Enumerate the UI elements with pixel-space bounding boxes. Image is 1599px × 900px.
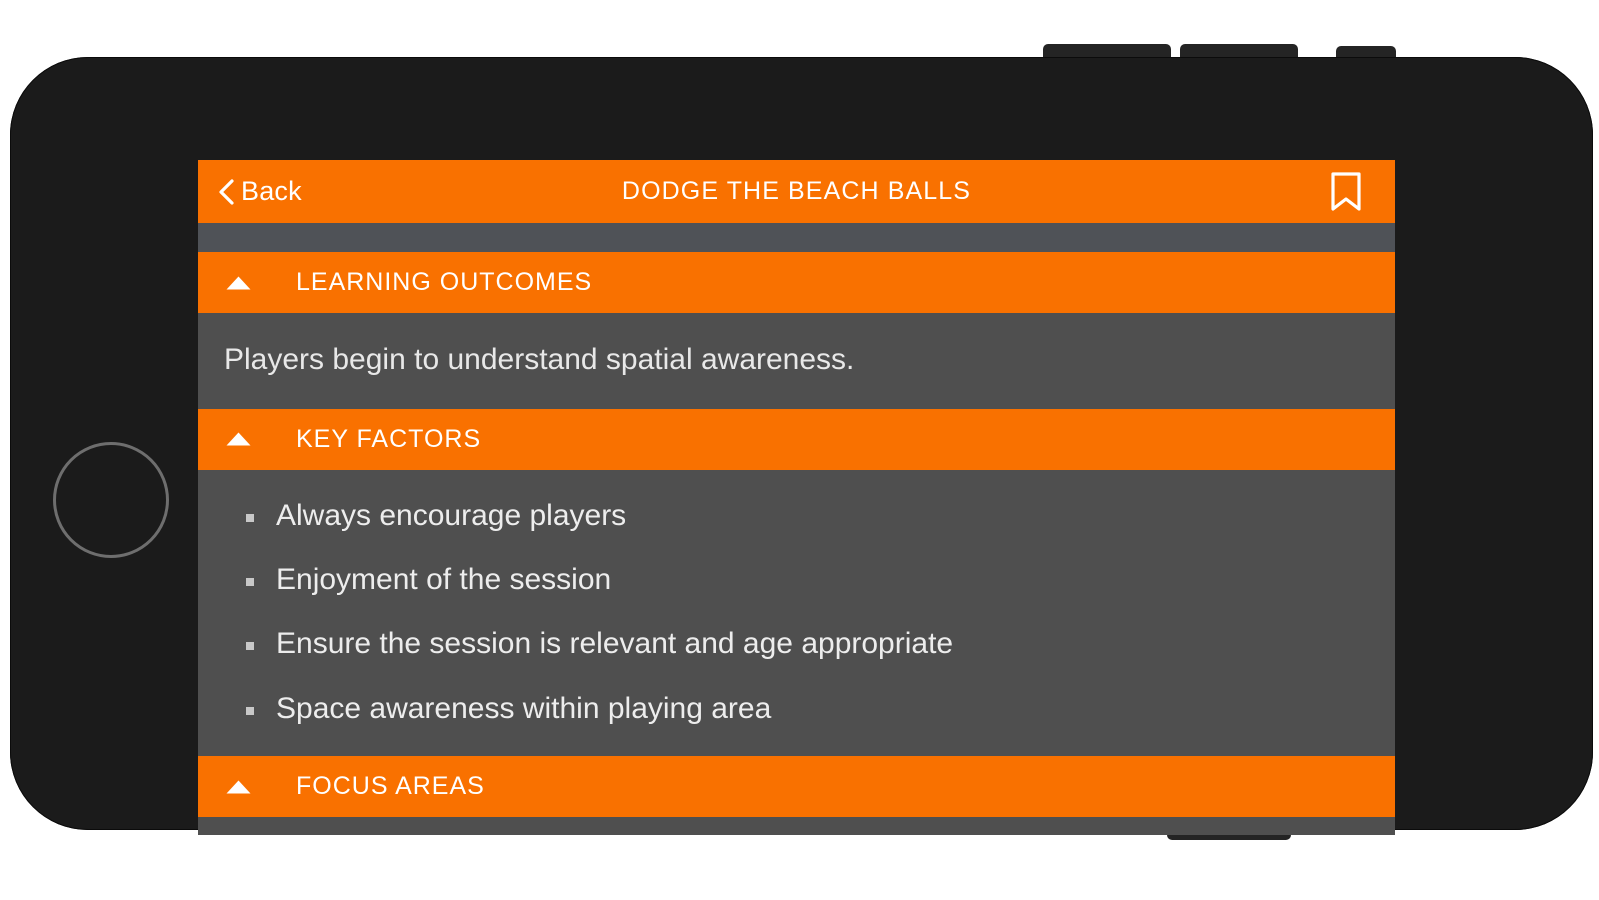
bullet-icon xyxy=(246,642,254,650)
caret-up-icon xyxy=(225,779,252,795)
section-header-key-factors[interactable]: KEY FACTORS xyxy=(198,409,1395,470)
page-title: DODGE THE BEACH BALLS xyxy=(198,177,1395,206)
bullet-icon xyxy=(246,578,254,586)
screenshot-stage: Back DODGE THE BEACH BALLS LEARNING OUTC… xyxy=(0,0,1599,900)
bullet-icon xyxy=(246,514,254,522)
list-item-label: Enjoyment of the session xyxy=(276,562,611,597)
caret-up-icon xyxy=(225,431,252,447)
list-item: Space awareness within playing area xyxy=(198,691,1395,726)
list-item-label: Ensure the session is relevant and age a… xyxy=(276,626,953,661)
back-button[interactable]: Back xyxy=(218,178,302,205)
list-item: Enjoyment of the session xyxy=(198,562,1395,597)
section-body-learning-outcomes: Players begin to understand spatial awar… xyxy=(198,313,1395,409)
phone-body: Back DODGE THE BEACH BALLS LEARNING OUTC… xyxy=(10,57,1593,830)
key-factors-list: Always encourage players Enjoyment of th… xyxy=(198,470,1395,757)
navigation-bar: Back DODGE THE BEACH BALLS xyxy=(198,160,1395,223)
learning-outcomes-text: Players begin to understand spatial awar… xyxy=(198,313,1395,409)
section-title-focus-areas: FOCUS AREAS xyxy=(296,772,485,801)
bookmark-button[interactable] xyxy=(1329,171,1363,213)
phone-screen: Back DODGE THE BEACH BALLS LEARNING OUTC… xyxy=(198,160,1395,835)
home-button[interactable] xyxy=(53,442,169,558)
navbar-separator xyxy=(198,223,1395,252)
list-item-label: Always encourage players xyxy=(276,498,626,533)
section-header-focus-areas[interactable]: FOCUS AREAS xyxy=(198,756,1395,817)
caret-up-icon xyxy=(225,275,252,291)
list-item: Always encourage players xyxy=(198,498,1395,533)
section-body-key-factors: Always encourage players Enjoyment of th… xyxy=(198,470,1395,757)
bookmark-icon xyxy=(1330,172,1362,212)
list-item: Ensure the session is relevant and age a… xyxy=(198,626,1395,661)
section-title-key-factors: KEY FACTORS xyxy=(296,425,481,454)
back-button-label: Back xyxy=(241,178,302,205)
list-item-label: Space awareness within playing area xyxy=(276,691,771,726)
chevron-left-icon xyxy=(218,179,234,205)
section-title-learning-outcomes: LEARNING OUTCOMES xyxy=(296,268,592,297)
section-header-learning-outcomes[interactable]: LEARNING OUTCOMES xyxy=(198,252,1395,313)
bullet-icon xyxy=(246,707,254,715)
